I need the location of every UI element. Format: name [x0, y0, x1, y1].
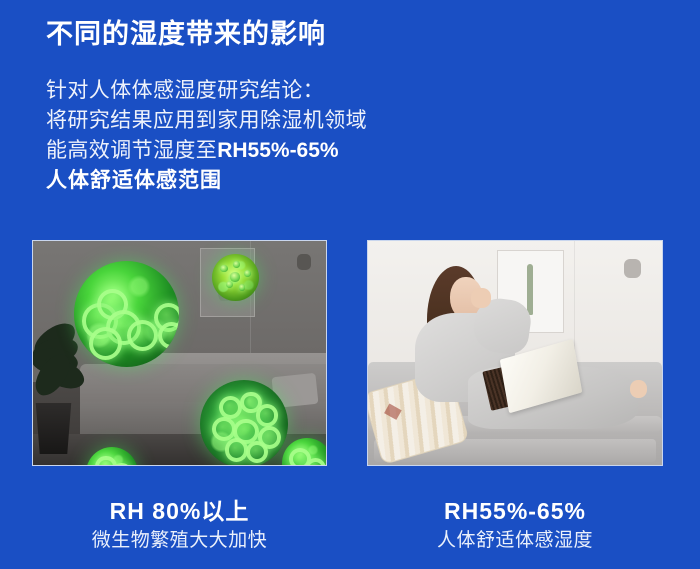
microbe-spore	[226, 281, 234, 289]
body-line-2: 将研究结果应用到家用除湿机领域	[46, 106, 367, 136]
body-line-1: 针对人体体感湿度研究结论：	[46, 76, 367, 106]
caption-title: RH55%-65%	[367, 496, 663, 526]
page-title: 不同的湿度带来的影响	[46, 18, 326, 52]
panel-high-humidity	[32, 240, 327, 466]
microbe-spore	[239, 284, 245, 290]
microbe-cell	[219, 396, 242, 419]
panel-row	[0, 240, 700, 466]
foot	[630, 380, 648, 398]
panel-comfort-humidity	[367, 240, 663, 466]
microbe-sphere-small-top	[212, 254, 259, 301]
photo-bright-living-room-woman-reading	[368, 241, 662, 465]
caption-subtitle: 人体舒适体感湿度	[367, 526, 663, 556]
microbe-cell	[95, 456, 117, 465]
photo-dim-living-room-with-green-microbes	[33, 241, 326, 465]
poster-root: 不同的湿度带来的影响 针对人体体感湿度研究结论： 将研究结果应用到家用除湿机领域…	[0, 0, 700, 569]
hand	[471, 288, 492, 308]
microbe-cell	[256, 404, 278, 426]
microbe-spore	[220, 265, 228, 273]
caption-title: RH 80%以上	[32, 496, 327, 526]
microbe-spore	[233, 261, 240, 268]
body-line-3: 能高效调节湿度至RH55%-65%	[46, 136, 367, 166]
body-copy: 针对人体体感湿度研究结论： 将研究结果应用到家用除湿机领域 能高效调节湿度至RH…	[46, 76, 367, 196]
microbe-cell	[127, 320, 158, 351]
person-reading	[368, 241, 662, 465]
microbe-sphere-large	[74, 261, 179, 366]
wall-knob-icon	[297, 254, 311, 270]
microbe-cell	[158, 322, 179, 349]
plant-pot	[33, 403, 73, 455]
microbe-cell	[246, 441, 268, 463]
caption-comfort-humidity: RH55%-65% 人体舒适体感湿度	[367, 496, 663, 556]
microbe-cell	[225, 438, 249, 462]
body-line-3-humidity-range: RH55%-65%	[217, 139, 338, 162]
body-line-4: 人体舒适体感范围	[46, 166, 367, 196]
microbe-sphere-edge	[282, 438, 326, 465]
microbe-sphere-floor	[86, 447, 139, 465]
caption-high-humidity: RH 80%以上 微生物繁殖大大加快	[32, 496, 327, 556]
microbe-spore	[244, 270, 251, 277]
microbe-sphere-bottom	[200, 380, 288, 465]
body-line-3-prefix: 能高效调节湿度至	[46, 139, 217, 162]
microbe-spore	[230, 272, 239, 281]
caption-subtitle: 微生物繁殖大大加快	[32, 526, 327, 556]
microbe-cell	[89, 327, 122, 360]
